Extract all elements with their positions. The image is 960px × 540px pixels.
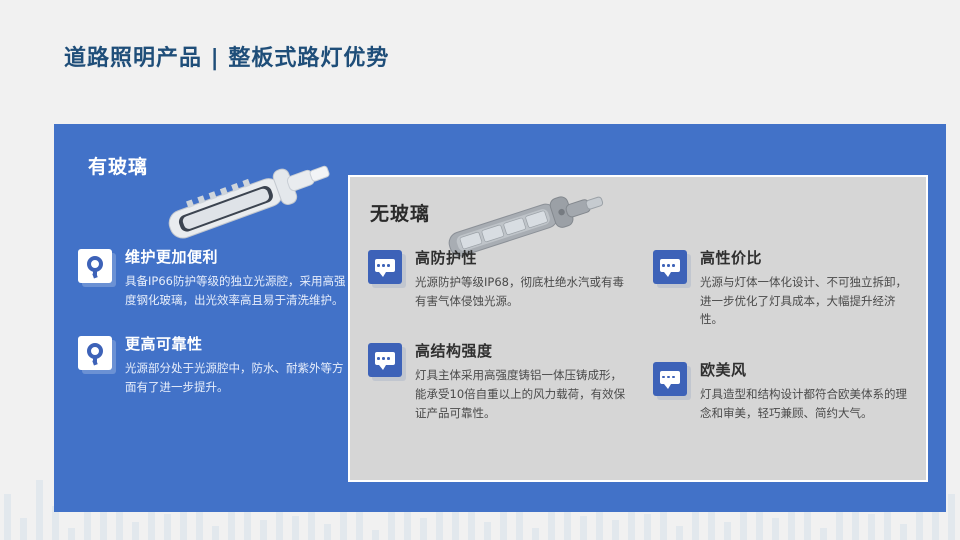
without-glass-heading: 无玻璃 — [370, 199, 430, 226]
decorative-bar — [356, 508, 363, 540]
decorative-bar — [164, 514, 171, 540]
feature-desc: 具备IP66防护等级的独立光源腔，采用高强度钢化玻璃，出光效率高且易于清洗维护。 — [125, 272, 353, 309]
feature-title: 维护更加便利 — [125, 246, 353, 267]
without-glass-feature-columns: 高防护性 光源防护等级IP68，彻底杜绝水汽或有毒有害气体侵蚀光源。 高结构强度… — [368, 247, 916, 452]
feature-column-right: 高性价比 光源与灯体一体化设计、不可独立拆卸，进一步优化了灯具成本，大幅提升经济… — [653, 247, 916, 452]
decorative-bar — [804, 508, 811, 540]
speech-bubble-icon — [368, 343, 402, 377]
with-glass-heading: 有玻璃 — [88, 152, 148, 179]
speech-bubble-icon — [368, 250, 402, 284]
decorative-bar — [820, 528, 827, 540]
feature-desc: 光源防护等级IP68，彻底杜绝水汽或有毒有害气体侵蚀光源。 — [415, 273, 631, 310]
decorative-bar — [452, 512, 459, 540]
decorative-bar — [532, 528, 539, 540]
decorative-bar — [100, 512, 107, 540]
decorative-bar — [948, 494, 955, 540]
decorative-bar — [484, 522, 491, 540]
speech-bubble-icon — [653, 250, 687, 284]
decorative-bar — [644, 514, 651, 540]
decorative-bar — [212, 526, 219, 540]
decorative-bar — [132, 522, 139, 540]
feature-desc: 光源部分处于光源腔中，防水、耐紫外等方面有了进一步提升。 — [125, 359, 353, 396]
decorative-bar — [36, 480, 43, 540]
page-title: 道路照明产品 | 整板式路灯优势 — [64, 40, 389, 72]
without-glass-panel: 无玻璃 高防护性 — [348, 175, 928, 482]
decorative-bar — [868, 514, 875, 540]
decorative-bar — [260, 520, 267, 540]
decorative-bar — [932, 512, 939, 540]
feature-desc: 光源与灯体一体化设计、不可独立拆卸，进一步优化了灯具成本，大幅提升经济性。 — [700, 273, 916, 329]
decorative-bar — [68, 528, 75, 540]
feature-column-left: 高防护性 光源防护等级IP68，彻底杜绝水汽或有毒有害气体侵蚀光源。 高结构强度… — [368, 247, 631, 452]
feature-title: 高性价比 — [700, 247, 916, 268]
location-ring-icon — [78, 336, 112, 370]
decorative-bar — [724, 522, 731, 540]
decorative-bar — [676, 526, 683, 540]
location-ring-icon — [78, 249, 112, 283]
decorative-bar — [292, 516, 299, 540]
feature-item[interactable]: 高防护性 光源防护等级IP68，彻底杜绝水汽或有毒有害气体侵蚀光源。 — [368, 247, 631, 310]
decorative-bar — [900, 524, 907, 540]
speech-bubble-icon — [653, 362, 687, 396]
feature-title: 高结构强度 — [415, 340, 631, 361]
decorative-bar — [516, 510, 523, 540]
feature-desc: 灯具主体采用高强度铸铝一体压铸成形，能承受10倍自重以上的风力载荷，有效保证产品… — [415, 366, 631, 422]
street-lamp-white-icon — [154, 152, 344, 252]
decorative-bar — [420, 518, 427, 540]
feature-item[interactable]: 高结构强度 灯具主体采用高强度铸铝一体压铸成形，能承受10倍自重以上的风力载荷，… — [368, 340, 631, 422]
feature-item[interactable]: 更高可靠性 光源部分处于光源腔中，防水、耐紫外等方面有了进一步提升。 — [78, 333, 353, 396]
decorative-bar — [372, 530, 379, 540]
decorative-bar — [20, 518, 27, 540]
feature-item[interactable]: 维护更加便利 具备IP66防护等级的独立光源腔，采用高强度钢化玻璃，出光效率高且… — [78, 246, 353, 309]
decorative-bar — [196, 510, 203, 540]
decorative-bar — [580, 516, 587, 540]
feature-title: 欧美风 — [700, 359, 916, 380]
feature-item[interactable]: 高性价比 光源与灯体一体化设计、不可独立拆卸，进一步优化了灯具成本，大幅提升经济… — [653, 247, 916, 329]
decorative-bar — [4, 494, 11, 540]
feature-title: 更高可靠性 — [125, 333, 353, 354]
decorative-bar — [756, 510, 763, 540]
decorative-bar — [324, 524, 331, 540]
feature-desc: 灯具造型和结构设计都符合欧美体系的理念和审美，轻巧兼顾、简约大气。 — [700, 385, 916, 422]
decorative-bar — [772, 518, 779, 540]
with-glass-feature-list: 维护更加便利 具备IP66防护等级的独立光源腔，采用高强度钢化玻璃，出光效率高且… — [78, 246, 353, 421]
decorative-bar — [612, 520, 619, 540]
feature-title: 高防护性 — [415, 247, 631, 268]
feature-item[interactable]: 欧美风 灯具造型和结构设计都符合欧美体系的理念和审美，轻巧兼顾、简约大气。 — [653, 359, 916, 422]
